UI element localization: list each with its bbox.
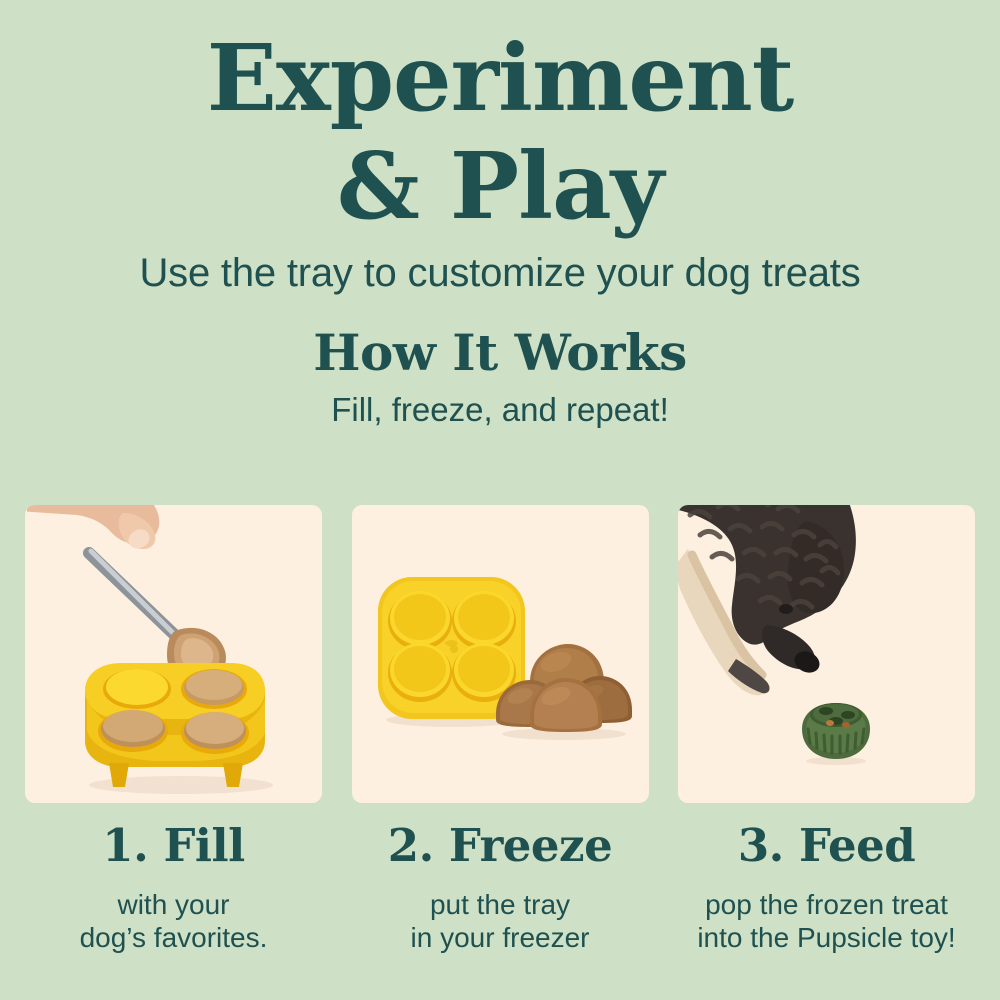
page-title: Experiment & Play bbox=[0, 0, 1000, 240]
step-1-title: 1. Fill bbox=[25, 820, 322, 872]
step-1-image-card bbox=[25, 505, 322, 803]
step-captions: 1. Fill with your dog’s favorites. 2. Fr… bbox=[25, 820, 975, 954]
title-line-1: Experiment bbox=[0, 0, 1000, 132]
step-3-title: 3. Feed bbox=[678, 820, 975, 872]
step-3: 3. Feed pop the frozen treat into the Pu… bbox=[678, 820, 975, 954]
silicone-tray-filled bbox=[73, 645, 278, 795]
step-2: 2. Freeze put the tray in your freezer bbox=[352, 820, 649, 954]
step-3-image-card bbox=[678, 505, 975, 803]
frozen-treats bbox=[494, 630, 634, 740]
step-1-description: with your dog’s favorites. bbox=[25, 888, 322, 954]
step-2-image-card bbox=[352, 505, 649, 803]
how-it-works-heading: How It Works bbox=[0, 324, 1000, 382]
promo-page: Experiment & Play Use the tray to custom… bbox=[0, 0, 1000, 1000]
page-subtitle: Use the tray to customize your dog treat… bbox=[0, 250, 1000, 296]
step-3-description: pop the frozen treat into the Pupsicle t… bbox=[678, 888, 975, 954]
pupsicle-toy bbox=[796, 695, 876, 765]
step-2-description: put the tray in your freezer bbox=[352, 888, 649, 954]
how-it-works-subheading: Fill, freeze, and repeat! bbox=[0, 390, 1000, 430]
step-1: 1. Fill with your dog’s favorites. bbox=[25, 820, 322, 954]
title-line-2: & Play bbox=[0, 132, 1000, 240]
step-image-cards bbox=[25, 505, 975, 803]
step-2-title: 2. Freeze bbox=[352, 820, 649, 872]
